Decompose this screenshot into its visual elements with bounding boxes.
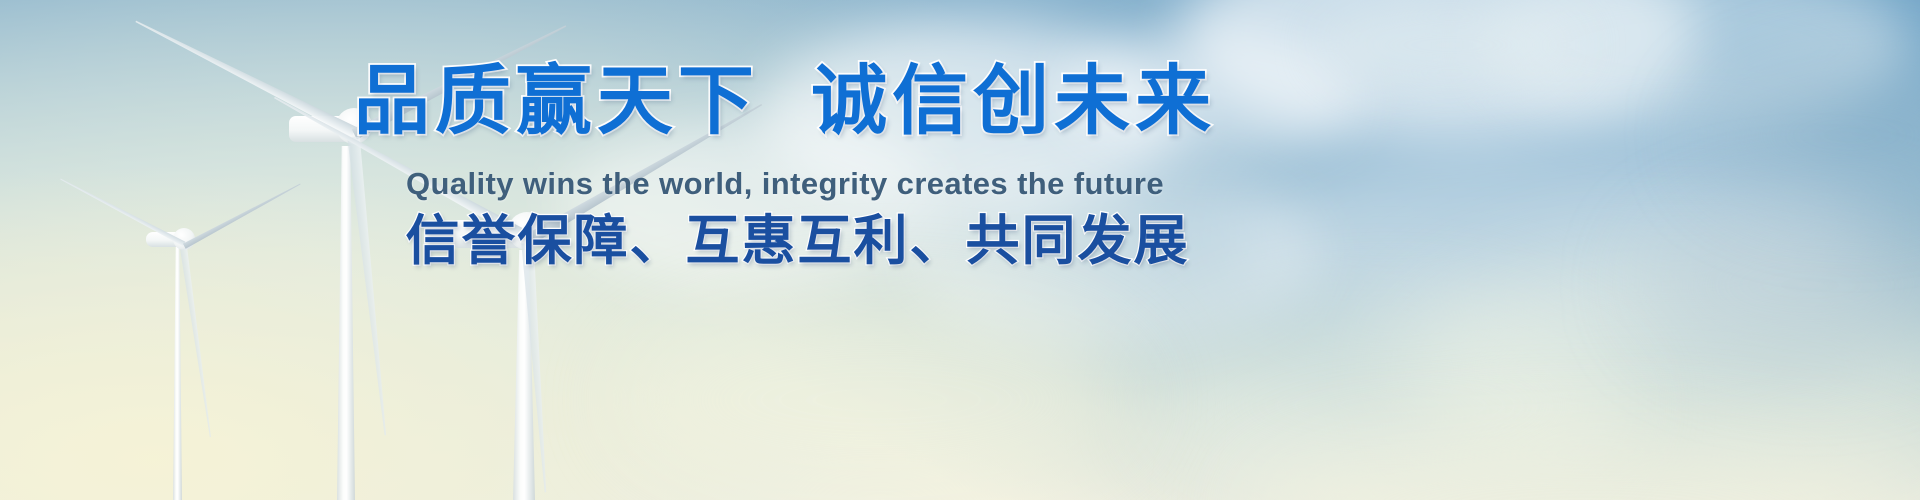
banner-headline: 品质赢天下 诚信创未来 [0, 62, 1570, 142]
banner-text-block: 品质赢天下 诚信创未来 Quality wins the world, inte… [0, 0, 1920, 500]
promo-banner: 品质赢天下 诚信创未来 Quality wins the world, inte… [0, 0, 1920, 500]
banner-tagline: 信誉保障、互惠互利、共同发展 [0, 196, 1595, 275]
